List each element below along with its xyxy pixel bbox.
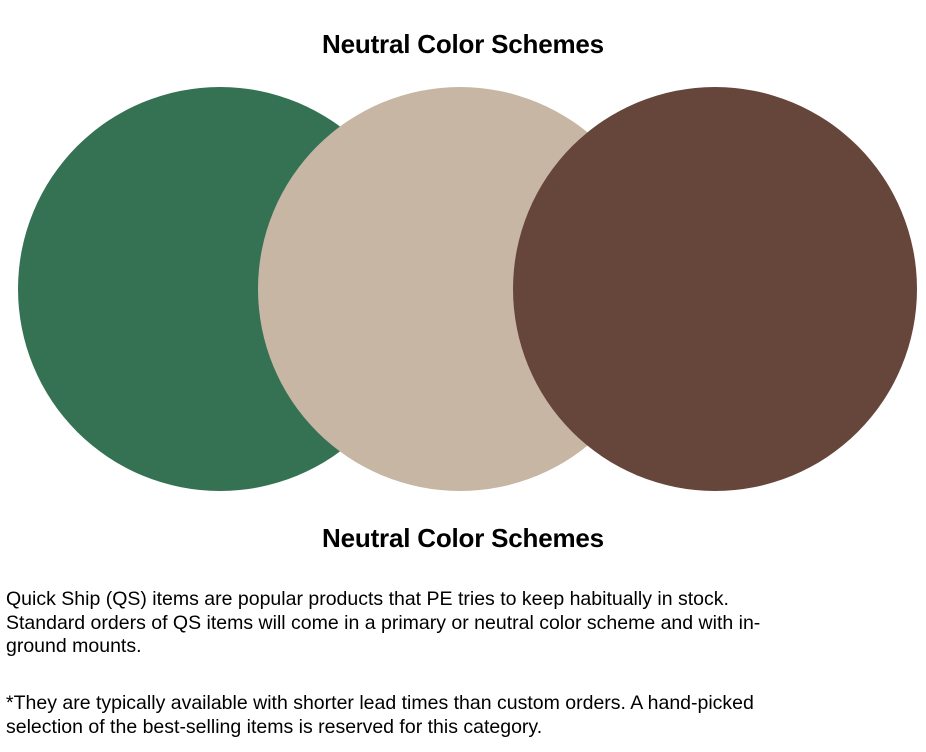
brown-swatch: [513, 87, 917, 491]
color-swatch-group: [0, 87, 926, 493]
paragraph-line: *They are typically available with short…: [6, 692, 902, 716]
paragraph-line: ground mounts.: [6, 635, 902, 659]
document-page: Neutral Color Schemes Neutral Color Sche…: [0, 0, 926, 752]
page-title-bottom: Neutral Color Schemes: [0, 523, 926, 553]
lead-time-footnote: *They are typically available with short…: [6, 692, 902, 739]
quick-ship-description: Quick Ship (QS) items are popular produc…: [6, 588, 902, 659]
paragraph-line: selection of the best-selling items is r…: [6, 716, 902, 740]
page-title-top: Neutral Color Schemes: [0, 29, 926, 59]
paragraph-line: Quick Ship (QS) items are popular produc…: [6, 588, 902, 612]
paragraph-line: Standard orders of QS items will come in…: [6, 612, 902, 636]
